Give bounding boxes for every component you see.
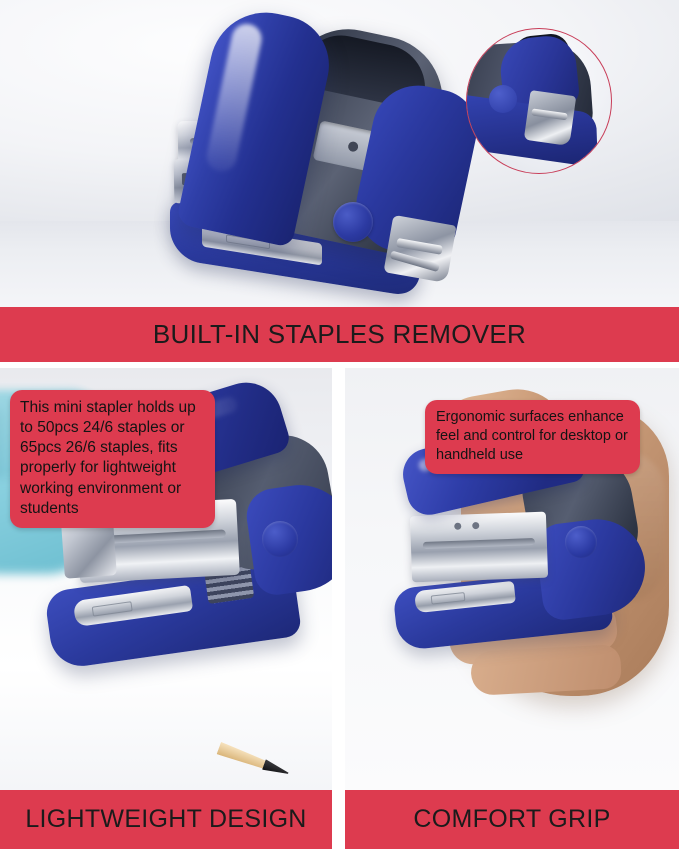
stapler-thumb-dot	[565, 526, 597, 558]
callout-ergonomics-text: Ergonomic surfaces enhance feel and cont…	[425, 400, 640, 474]
remover-lower-jaw	[390, 251, 440, 272]
magazine-track	[423, 538, 535, 549]
handle-highlight	[204, 21, 265, 174]
product-feature-image: BUILT-IN STAPLES REMOVER	[0, 0, 679, 849]
banner-label: COMFORT GRIP	[413, 805, 610, 834]
pencil-graphite-tip	[262, 759, 290, 778]
stapler-thumb-dot	[262, 521, 298, 557]
banner-label: LIGHTWEIGHT DESIGN	[25, 805, 306, 834]
hero-product-photo	[0, 0, 679, 307]
remover-upper-jaw	[396, 238, 443, 255]
magazine-hole	[454, 523, 461, 530]
inset-jaw-blade	[531, 108, 568, 120]
staple-remover-jaw	[383, 215, 456, 283]
banner-built-in-staples-remover: BUILT-IN STAPLES REMOVER	[0, 307, 679, 362]
banner-comfort-grip: COMFORT GRIP	[345, 790, 679, 849]
inset-thumb-dot	[489, 85, 517, 113]
staple-remover-zoom-inset	[466, 28, 612, 174]
stapler-thumb-dot	[333, 202, 373, 242]
anvil-mark	[92, 601, 133, 616]
banner-lightweight-design: LIGHTWEIGHT DESIGN	[0, 790, 332, 849]
stapler-hero-illustration	[150, 8, 490, 307]
inset-remover-jaw	[524, 90, 577, 146]
callout-capacity-text: This mini stapler holds up to 50pcs 24/6…	[10, 390, 215, 528]
banner-label: BUILT-IN STAPLES REMOVER	[153, 319, 526, 350]
panel-gutter-vertical	[332, 362, 345, 849]
window-indicator-dot	[347, 141, 359, 153]
magazine-hole	[472, 522, 479, 529]
anvil-mark	[431, 592, 466, 605]
stapler-magazine	[410, 512, 548, 583]
